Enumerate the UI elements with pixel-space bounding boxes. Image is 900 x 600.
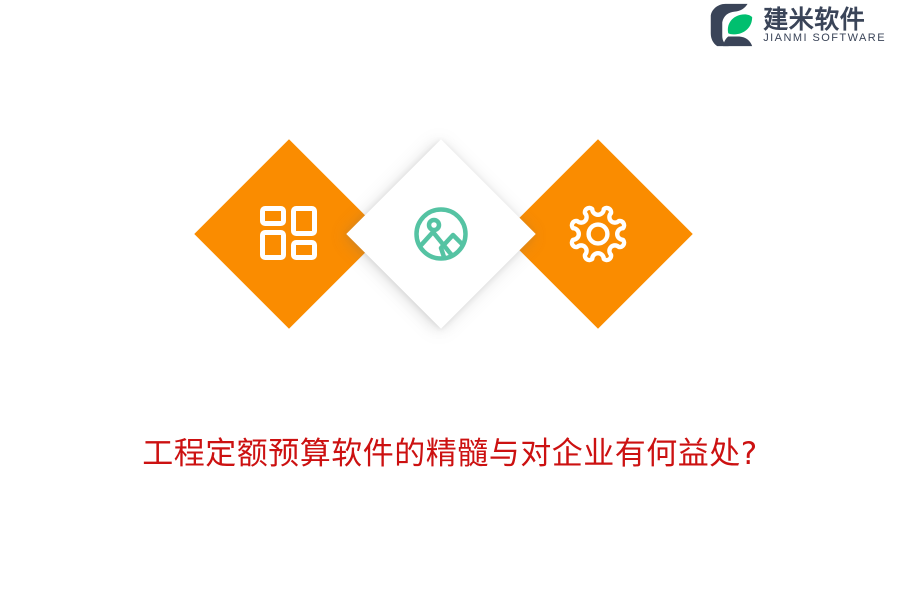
image-photo-icon xyxy=(410,203,472,265)
gear-settings-icon xyxy=(568,204,628,264)
page-headline: 工程定额预算软件的精髓与对企业有何益处? xyxy=(0,432,900,476)
jianmi-leaf-logo-icon xyxy=(708,2,754,48)
feature-diamond-row xyxy=(0,155,900,360)
brand-name-cn: 建米软件 xyxy=(763,7,886,32)
feature-diamond-media[interactable] xyxy=(346,139,536,329)
brand-name-en: JIANMI SOFTWARE xyxy=(763,33,886,44)
brand-logo[interactable]: 建米软件 JIANMI SOFTWARE xyxy=(708,0,886,50)
grid-modules-icon xyxy=(259,204,319,264)
brand-text-block: 建米软件 JIANMI SOFTWARE xyxy=(763,7,886,44)
